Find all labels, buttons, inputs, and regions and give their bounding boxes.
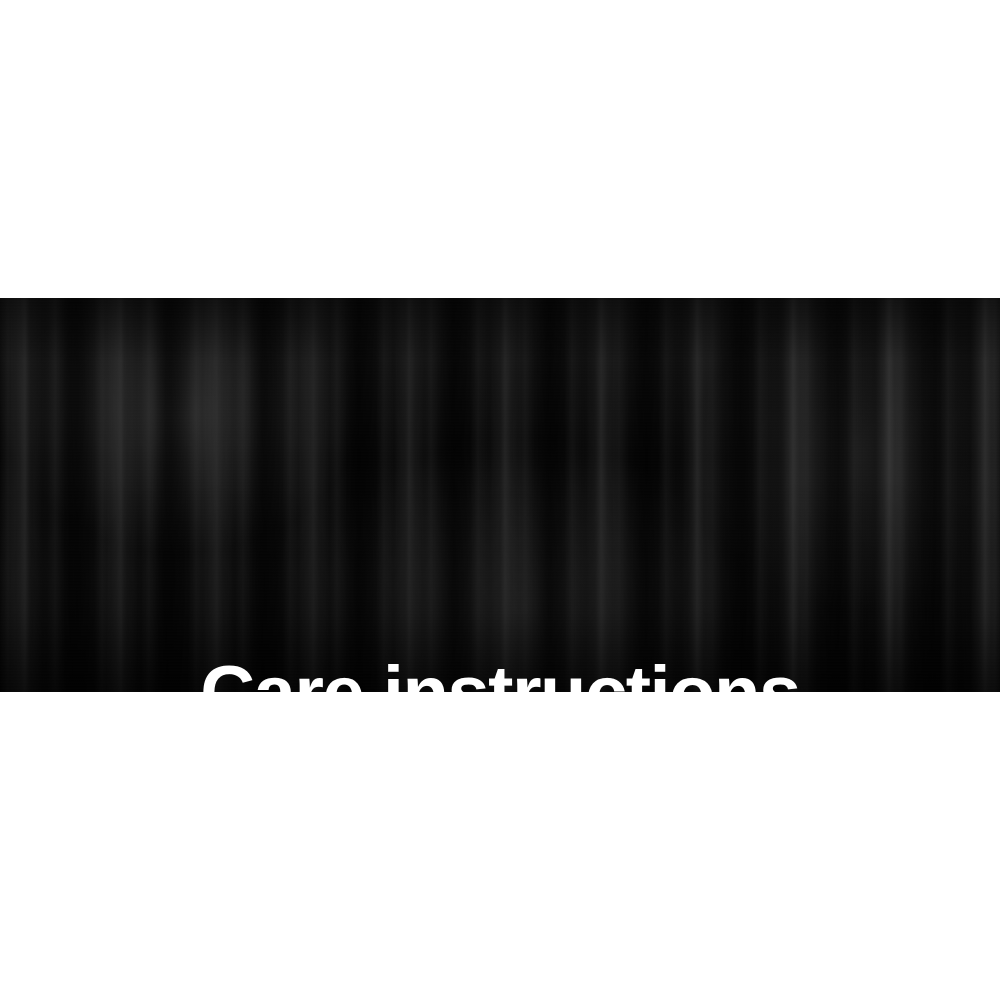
care-instructions-banner: Care instructions Machine washable cold (0, 0, 1000, 1000)
band-content: Care instructions Machine washable cold (0, 298, 1000, 692)
page-title: Care instructions (0, 656, 1000, 692)
care-band: Care instructions Machine washable cold (0, 298, 1000, 692)
